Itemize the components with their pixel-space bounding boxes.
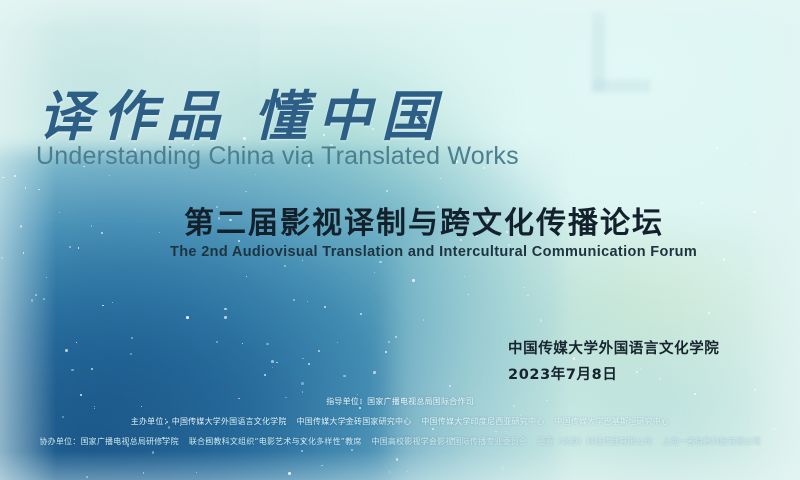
corner-watermark-icon bbox=[592, 12, 650, 92]
credit-line-coorganizers: 协办单位：国家广播电视总局研修学院联合国教科文组织“电影艺术与文化多样性”教席中… bbox=[0, 432, 800, 452]
organizers-label: 主办单位： bbox=[131, 417, 172, 426]
coorganizer-item-1: 联合国教科文组织“电影艺术与文化多样性”教席 bbox=[189, 437, 362, 446]
conference-poster: 译作品 懂中国 Understanding China via Translat… bbox=[0, 0, 800, 480]
organizer-item-2: 中国传媒大学印度尼西亚研究中心 bbox=[421, 417, 544, 426]
coorganizer-item-0: 国家广播电视总局研修学院 bbox=[80, 437, 178, 446]
organizer-item-1: 中国传媒大学金砖国家研究中心 bbox=[297, 417, 412, 426]
host-organization: 中国传媒大学外国语言文化学院 bbox=[508, 337, 719, 358]
credit-line-organizers: 主办单位：中国传媒大学外国语言文化学院中国传媒大学金砖国家研究中心中国传媒大学印… bbox=[0, 412, 800, 432]
wash-top-right-mint bbox=[260, 0, 800, 360]
credit-line-guidance: 指导单位：国家广播电视总局国际合作司 bbox=[0, 392, 800, 412]
event-date: 2023年7月8日 bbox=[508, 363, 617, 384]
poster-title-english: Understanding China via Translated Works bbox=[36, 142, 519, 171]
coorganizers-label: 协办单位： bbox=[39, 437, 80, 446]
wash-warm-yellow-green-accent bbox=[540, 250, 740, 380]
poster-title-chinese: 译作品 懂中国 bbox=[38, 72, 446, 151]
coorganizer-item-2: 中国高校影视学会影视国际传播专业委员会 bbox=[372, 437, 528, 446]
credits-block: 指导单位：国家广播电视总局国际合作司 主办单位：中国传媒大学外国语言文化学院中国… bbox=[0, 392, 800, 452]
coorganizer-item-4: 上海一者信息科技有限公司 bbox=[662, 437, 760, 446]
coorganizer-item-3: 墨责（北京）科技传播有限公司 bbox=[537, 437, 652, 446]
organizer-item-0: 中国传媒大学外国语言文化学院 bbox=[172, 417, 287, 426]
forum-name-english: The 2nd Audiovisual Translation and Inte… bbox=[170, 244, 697, 260]
forum-name-chinese: 第二届影视译制与跨文化传播论坛 bbox=[184, 198, 664, 242]
organizer-item-3: 中国传媒大学巴基斯坦研究中心 bbox=[554, 417, 669, 426]
